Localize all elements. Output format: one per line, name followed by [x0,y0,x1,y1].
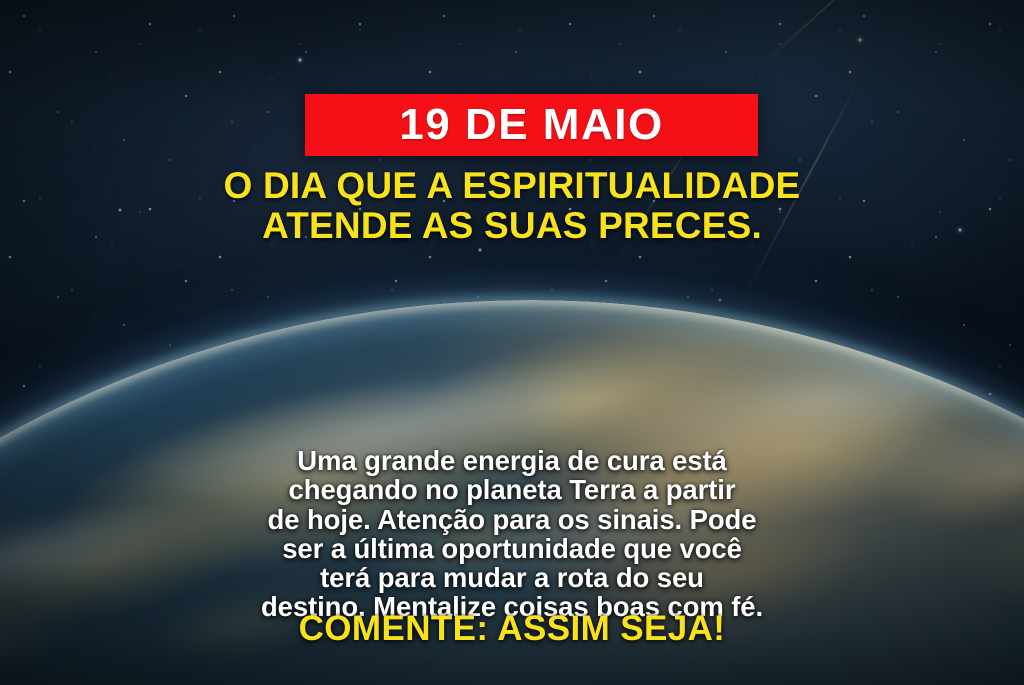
body-line-2: chegando no planeta Terra a partir [52,475,972,504]
headline-line-1: O DIA QUE A ESPIRITUALIDADE [44,166,980,206]
headline: O DIA QUE A ESPIRITUALIDADE ATENDE AS SU… [0,166,1024,245]
body-line-5: terá para mudar a rota do seu [52,563,972,592]
date-banner-text: 19 DE MAIO [399,103,663,147]
call-to-action-text: COMENTE: ASSIM SEJA! [0,611,1024,646]
date-banner: 19 DE MAIO [305,94,758,156]
poster-canvas: 19 DE MAIO O DIA QUE A ESPIRITUALIDADE A… [0,0,1024,685]
headline-line-2: ATENDE AS SUAS PRECES. [44,206,980,246]
body-line-4: ser a última oportunidade que você [52,534,972,563]
body-paragraph: Uma grande energia de cura está chegando… [0,446,1024,622]
poster-content: 19 DE MAIO O DIA QUE A ESPIRITUALIDADE A… [0,0,1024,685]
body-line-1: Uma grande energia de cura está [52,446,972,475]
body-line-3: de hoje. Atenção para os sinais. Pode [52,505,972,534]
